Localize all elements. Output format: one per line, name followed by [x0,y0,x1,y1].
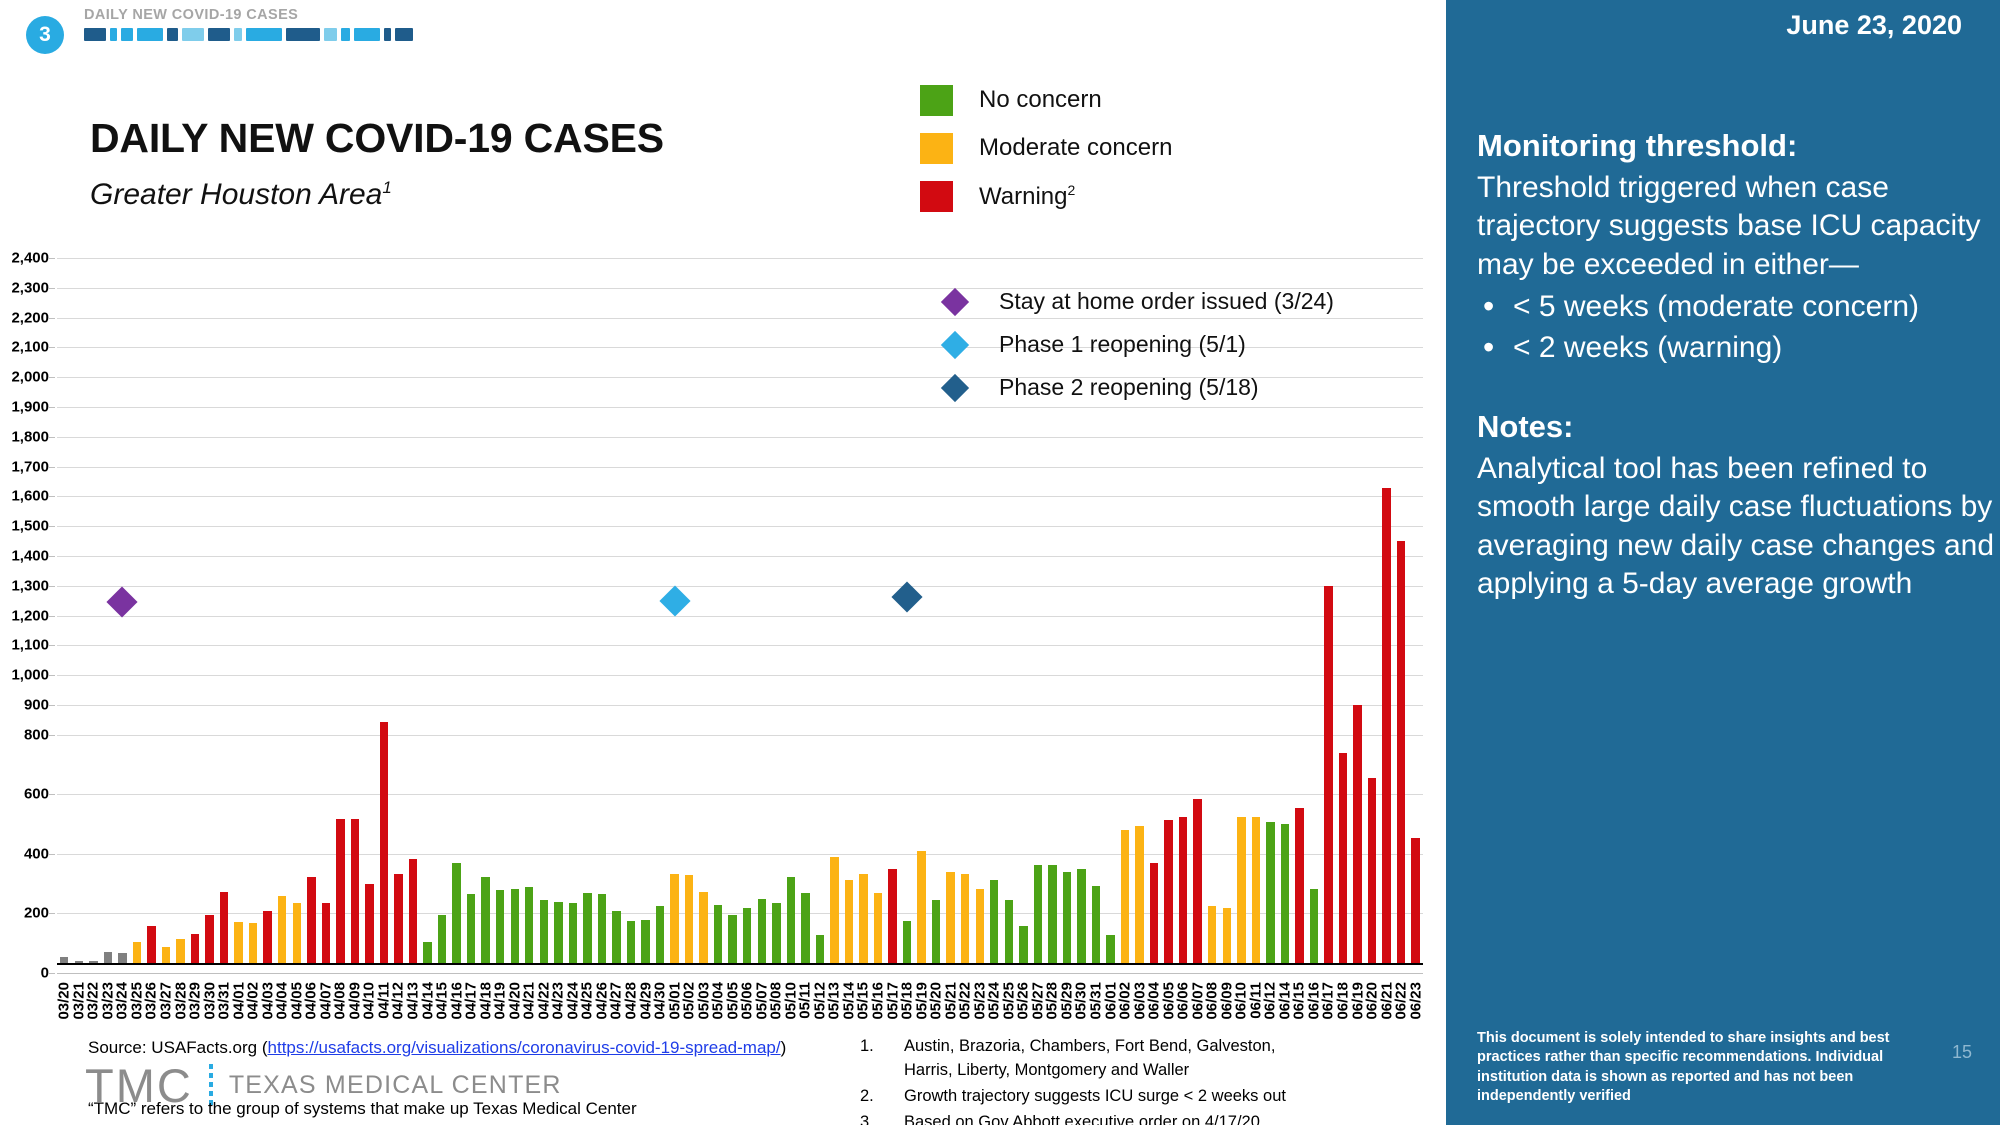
bar [845,880,853,963]
legend-footnote-marker: 2 [1067,182,1075,198]
y-axis-tick-label: 1,100 [11,637,49,654]
bar [874,893,882,963]
progress-segment-1 [110,28,117,41]
bar-cell [1394,258,1409,963]
y-axis-tick-label: 200 [24,905,49,922]
bar-cell [580,258,595,963]
bar-cell [478,258,493,963]
bar [961,874,969,963]
bar-cell [101,258,116,963]
y-axis-tick-mark [48,318,55,319]
daily-new-cases-chart: 2,4002,3002,2002,1002,0001,9001,8001,700… [0,250,1446,965]
bar-cell [522,258,537,963]
progress-segment-6 [208,28,230,41]
bar [801,893,809,963]
legend-swatch-icon [920,85,953,116]
bar [816,935,824,963]
bar [1150,863,1158,963]
progress-segment-10 [324,28,337,41]
bar [1135,826,1143,963]
bar-cell [827,258,842,963]
bar [1266,822,1274,964]
marker-legend-item-0: Stay at home order issued (3/24) [937,280,1334,323]
bar [612,911,620,963]
bar [540,900,548,963]
bar [758,899,766,963]
bar [990,880,998,963]
bar-cell [696,258,711,963]
bar [249,923,257,963]
bar [481,877,489,963]
bar [1106,935,1114,963]
tmc-logo-name: TEXAS MEDICAL CENTER [229,1071,562,1100]
y-axis-tick-mark [48,675,55,676]
bar [903,921,911,963]
bar [1164,820,1172,963]
bar [641,920,649,963]
y-axis-tick-mark [48,437,55,438]
bar-cell [914,258,929,963]
bar-cell [682,258,697,963]
y-axis-tick-mark [48,616,55,617]
bar-cell [202,258,217,963]
bar [496,890,504,963]
bar-cell [86,258,101,963]
bar [946,872,954,963]
bar-cell [420,258,435,963]
progress-segment-13 [384,28,391,41]
bar [293,903,301,963]
bar-cell [624,258,639,963]
bar [147,926,155,963]
bar [1281,824,1289,963]
y-axis-tick-mark [48,705,55,706]
subtitle-footnote-marker: 1 [382,178,391,197]
bar-cell [319,258,334,963]
x-axis-cell: 04/25 [580,978,595,1078]
y-axis-tick-label: 2,100 [11,339,49,356]
x-axis-cell: 04/30 [653,978,668,1078]
panel-heading-threshold: Monitoring threshold: [1477,128,1995,164]
bar-cell [406,258,421,963]
bar [699,892,707,964]
bar-cell [464,258,479,963]
bar [1092,886,1100,963]
panel-heading-notes: Notes: [1477,409,1995,445]
y-axis-tick-mark [48,556,55,557]
bar-cell [57,258,72,963]
bar-cell [435,258,450,963]
bar-cell [493,258,508,963]
gridline-0: 0 [57,973,1423,974]
bar-cell [173,258,188,963]
bar-cell [260,258,275,963]
bar [728,915,736,963]
bar-cell [1336,258,1351,963]
x-axis-cell: 06/23 [1408,978,1423,1078]
bar [743,908,751,963]
y-axis-tick-mark [48,586,55,587]
x-axis-cell: 03/20 [57,978,72,1078]
bar [133,942,141,963]
bar [351,819,359,963]
bar-cell [275,258,290,963]
bar [365,884,373,963]
y-axis-tick-label: 400 [24,845,49,862]
bar-cell [609,258,624,963]
bar [162,947,170,963]
footnote-number: 3. [860,1111,904,1125]
y-axis-tick-label: 2,300 [11,279,49,296]
y-axis-tick-label: 600 [24,786,49,803]
bar-cell [1365,258,1380,963]
panel-paragraph-threshold: Threshold triggered when case trajectory… [1477,169,1995,284]
bar [554,902,562,963]
bar [525,887,533,963]
bar [394,874,402,963]
footnote-item-1: 2.Growth trajectory suggests ICU surge <… [860,1085,1304,1109]
bar [1324,586,1332,963]
bar [278,896,286,963]
footnote-text: Based on Gov Abbott executive order on 4… [904,1111,1260,1125]
page-title: DAILY NEW COVID-19 CASES [90,115,664,162]
bar [205,915,213,963]
progress-segment-9 [286,28,320,41]
bar [1121,830,1129,963]
bar [60,957,68,963]
progress-bars [84,28,413,41]
chart-marker-legend: Stay at home order issued (3/24)Phase 1 … [937,280,1334,409]
bar [118,953,126,963]
bar [1310,889,1318,963]
y-axis-tick-mark [48,258,55,259]
y-axis-tick-label: 1,500 [11,518,49,535]
marker-legend-label: Phase 2 reopening (5/18) [999,374,1259,401]
bar-cell [871,258,886,963]
progress-segment-12 [354,28,380,41]
x-axis-cell: 06/20 [1365,978,1380,1078]
progress-segment-14 [395,28,413,41]
legend-item-2: Warning2 [920,172,1172,220]
progress-segment-5 [182,28,204,41]
bar-cell [638,258,653,963]
legend-swatch-icon [920,181,953,212]
y-axis-tick-label: 1,900 [11,398,49,415]
x-axis-cell: 05/11 [798,978,813,1078]
panel-paragraph-notes: Analytical tool has been refined to smoo… [1477,450,1995,604]
bar [409,859,417,963]
y-axis-tick-mark [48,496,55,497]
y-axis-tick-mark [48,407,55,408]
bar-cell [566,258,581,963]
y-axis-tick-label: 2,400 [11,250,49,267]
bar-cell [290,258,305,963]
legend-item-0: No concern [920,76,1172,124]
bar [1368,778,1376,963]
panel-disclaimer: This document is solely intended to shar… [1477,1029,1940,1107]
bar [656,906,664,963]
progress-segment-8 [246,28,282,41]
footnote-text: Austin, Brazoria, Chambers, Fort Bend, G… [904,1035,1304,1083]
panel-content: Monitoring threshold: Threshold triggere… [1477,128,1995,604]
y-axis-tick-mark [48,467,55,468]
y-axis-tick-label: 800 [24,726,49,743]
bar-cell [217,258,232,963]
bar-cell [653,258,668,963]
bar-cell [1350,258,1365,963]
bar-cell [842,258,857,963]
legend-label: Moderate concern [979,134,1172,162]
legend-label: No concern [979,86,1102,114]
bar [438,915,446,963]
bar [976,889,984,963]
bar [452,863,460,963]
source-suffix: ) [781,1038,787,1057]
marker-legend-item-1: Phase 1 reopening (5/1) [937,323,1334,366]
bar [1034,865,1042,963]
bar [1295,808,1303,963]
x-axis-cell: 05/13 [827,978,842,1078]
bar-cell [595,258,610,963]
bar [670,874,678,963]
bar [1019,926,1027,963]
progress-segment-0 [84,28,106,41]
bar [598,894,606,963]
bar-cell [711,258,726,963]
bar-cell [885,258,900,963]
bar-cell [537,258,552,963]
y-axis-tick-mark [48,794,55,795]
panel-bullet-0: < 5 weeks (moderate concern) [1477,288,1995,326]
progress-segment-7 [234,28,242,41]
bar [1411,838,1419,963]
bar [932,900,940,963]
bar-cell [231,258,246,963]
source-line: Source: USAFacts.org (https://usafacts.o… [88,1038,786,1058]
bar-cell [449,258,464,963]
y-axis-tick-label: 1,700 [11,458,49,475]
progress-segment-11 [341,28,350,41]
footnote-item-2: 3.Based on Gov Abbott executive order on… [860,1111,1304,1125]
bar [1252,817,1260,963]
y-axis-tick-mark [48,288,55,289]
bar-cell [1408,258,1423,963]
bar [234,922,242,963]
x-axis-cell: 05/06 [740,978,755,1078]
bar-cell [130,258,145,963]
y-axis-tick-mark [48,854,55,855]
footnote-item-0: 1.Austin, Brazoria, Chambers, Fort Bend,… [860,1035,1304,1083]
bar [104,952,112,963]
y-axis-tick-label: 1,000 [11,667,49,684]
slide: 3 DAILY NEW COVID-19 CASES DAILY NEW COV… [0,0,2000,1125]
legend-swatch-icon [920,133,953,164]
bar-cell [725,258,740,963]
bar-cell [144,258,159,963]
bar-cell [755,258,770,963]
bar [75,961,83,963]
x-axis-cell: 06/22 [1394,978,1409,1078]
bar-cell [159,258,174,963]
progress-segment-3 [137,28,163,41]
bar [467,894,475,963]
bar [888,869,896,963]
y-axis-tick-label: 1,300 [11,577,49,594]
bar [1237,817,1245,963]
legend-item-1: Moderate concern [920,124,1172,172]
bar [685,875,693,963]
bar [1005,900,1013,963]
bar-cell [348,258,363,963]
bar [859,874,867,963]
x-axis-cell: 04/28 [624,978,639,1078]
legend-label: Warning2 [979,182,1075,211]
panel-bullet-list: < 5 weeks (moderate concern)< 2 weeks (w… [1477,288,1995,367]
section-badge: 3 [26,16,64,54]
y-axis-tick-label: 1,400 [11,547,49,564]
breadcrumb-title: DAILY NEW COVID-19 CASES [84,7,298,23]
bar-cell [740,258,755,963]
bar-cell [769,258,784,963]
bar [1397,541,1405,963]
bar [1063,872,1071,963]
panel-bullet-1: < 2 weeks (warning) [1477,329,1995,367]
footnote-number: 1. [860,1035,904,1083]
chart-plot-area: 2,4002,3002,2002,1002,0001,9001,8001,700… [57,258,1423,965]
bar [627,921,635,963]
bar-cell [1379,258,1394,963]
y-axis-tick-label: 2,200 [11,309,49,326]
bar-cell [391,258,406,963]
bar [1223,908,1231,963]
bar-cell [377,258,392,963]
bar [1193,799,1201,963]
progress-segment-4 [167,28,178,41]
bar-cell [507,258,522,963]
bar [1048,865,1056,963]
bar-cell [333,258,348,963]
bar [511,889,519,963]
bar [380,722,388,963]
bar [1208,906,1216,963]
progress-segment-2 [121,28,133,41]
page-subtitle: Greater Houston Area1 [90,178,392,212]
bar [772,903,780,963]
bar [583,893,591,963]
diamond-marker-icon [941,373,969,401]
bar [1077,869,1085,963]
bar-cell [856,258,871,963]
marker-legend-item-2: Phase 2 reopening (5/18) [937,366,1334,409]
bar-cell [798,258,813,963]
chart-color-legend: No concernModerate concernWarning2 [920,76,1172,220]
bar [191,934,199,963]
bar [307,877,315,963]
bar [714,905,722,963]
diamond-marker-icon [941,287,969,315]
y-axis-tick-label: 1,800 [11,428,49,445]
bar [263,911,271,963]
y-axis-tick-mark [48,913,55,914]
bar [569,903,577,963]
subtitle-text: Greater Houston Area [90,178,382,211]
marker-legend-label: Stay at home order issued (3/24) [999,288,1334,315]
bar-cell [813,258,828,963]
bar-cell [784,258,799,963]
bar [917,851,925,963]
y-axis-tick-mark [48,973,55,974]
diamond-marker-icon [941,330,969,358]
info-panel: June 23, 2020 Monitoring threshold: Thre… [1446,0,2000,1125]
bar-cell [362,258,377,963]
bar [830,857,838,963]
bar [220,892,228,964]
marker-legend-label: Phase 1 reopening (5/1) [999,331,1246,358]
y-axis-tick-mark [48,645,55,646]
y-axis-tick-mark [48,735,55,736]
x-axis-cell: 05/08 [769,978,784,1078]
bar [322,903,330,963]
y-axis-tick-label: 2,000 [11,369,49,386]
bar-cell [304,258,319,963]
bar [1353,705,1361,963]
tmc-disclaimer: “TMC” refers to the group of systems tha… [88,1099,637,1119]
y-axis-tick-label: 1,600 [11,488,49,505]
panel-spacer [1477,369,1995,409]
x-axis-cell: 05/04 [711,978,726,1078]
page-number: 15 [1952,1042,1972,1063]
bar [176,939,184,963]
bar-cell [188,258,203,963]
x-axis-cell: 06/18 [1336,978,1351,1078]
bar [1339,753,1347,963]
bar [336,819,344,963]
bar-cell [246,258,261,963]
y-axis-tick-mark [48,347,55,348]
y-axis-tick-label: 1,200 [11,607,49,624]
y-axis-tick-label: 900 [24,696,49,713]
x-axis-cell: 05/02 [682,978,697,1078]
x-axis-tick-label: 06/23 [1407,982,1424,1020]
source-prefix: Source: USAFacts.org ( [88,1038,268,1057]
bar [89,961,97,963]
footnote-number: 2. [860,1085,904,1109]
panel-date: June 23, 2020 [1786,10,1962,41]
footnotes-list: 1.Austin, Brazoria, Chambers, Fort Bend,… [860,1035,1304,1125]
footnote-text: Growth trajectory suggests ICU surge < 2… [904,1085,1286,1109]
source-link[interactable]: https://usafacts.org/visualizations/coro… [268,1038,781,1057]
bar [787,877,795,963]
y-axis-tick-mark [48,526,55,527]
bar-cell [72,258,87,963]
bar [1179,817,1187,963]
bar-cell [551,258,566,963]
bar [423,942,431,963]
bar [1382,488,1390,963]
y-axis-tick-mark [48,377,55,378]
